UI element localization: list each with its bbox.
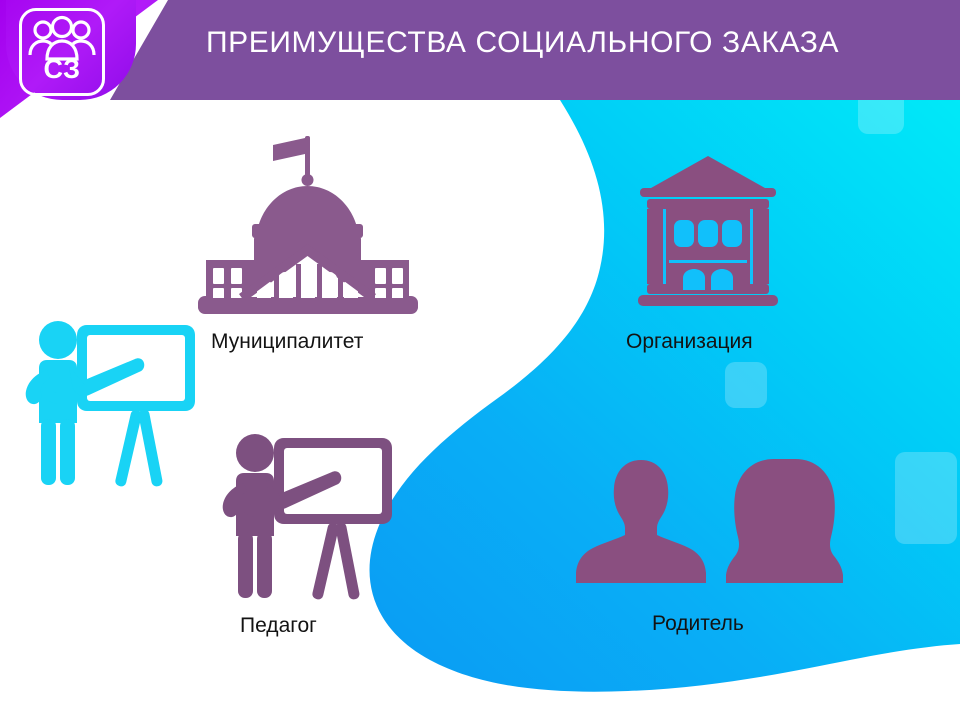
teacher-whiteboard-icon xyxy=(25,315,200,490)
teacher-cyan-icon-holder xyxy=(25,315,200,490)
label-organization: Организация xyxy=(626,330,753,354)
page-title: ПРЕИМУЩЕСТВА СОЦИАЛЬНОГО ЗАКАЗА xyxy=(206,26,946,60)
slide-header: ПРЕИМУЩЕСТВА СОЦИАЛЬНОГО ЗАКАЗА xyxy=(0,0,960,100)
label-parent: Родитель xyxy=(652,612,744,636)
teacher-purple-icon-holder xyxy=(222,428,397,603)
slide-canvas: Муниципалитет Организация Педагог Родите… xyxy=(0,0,960,720)
teacher-whiteboard-icon xyxy=(222,428,397,603)
two-person-silhouettes-icon xyxy=(575,455,845,595)
label-teacher: Педагог xyxy=(240,614,317,638)
logo-abbreviation: СЗ xyxy=(19,54,105,85)
parents-icon-holder xyxy=(575,455,845,595)
decor-square-3 xyxy=(895,452,957,544)
classical-building-icon xyxy=(628,150,788,314)
label-municipality: Муниципалитет xyxy=(211,330,363,354)
capitol-building-icon xyxy=(195,128,421,318)
municipality-icon-holder xyxy=(195,128,421,318)
organization-icon-holder xyxy=(628,150,788,314)
decor-square-2 xyxy=(725,362,767,408)
